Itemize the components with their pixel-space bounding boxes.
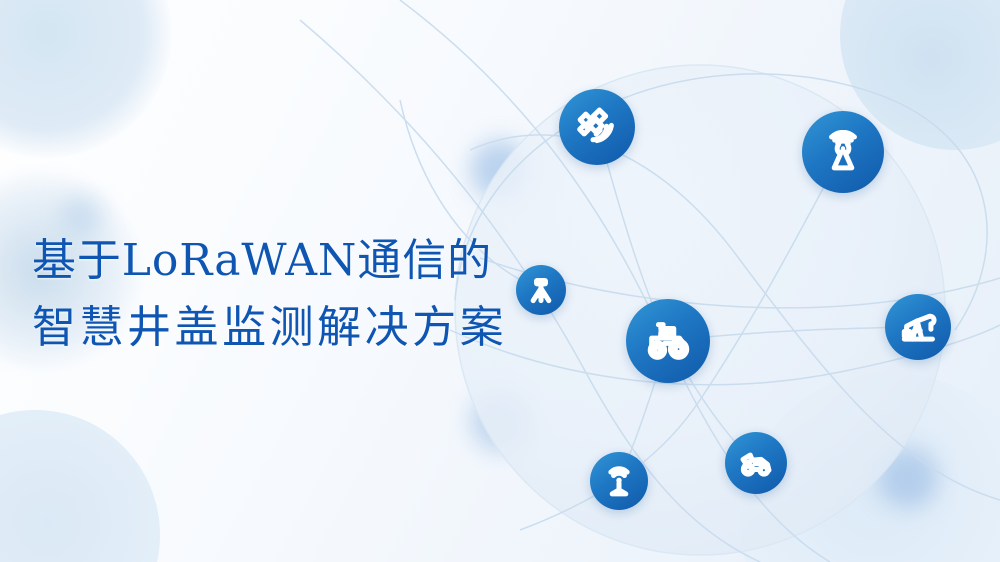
node-wireless-sensor[interactable] <box>590 452 648 510</box>
page-title: 基于LoRaWAN通信的 智慧井盖监测解决方案 <box>32 228 507 362</box>
node-satellite[interactable] <box>559 89 635 165</box>
node-radio-tower[interactable] <box>802 111 884 193</box>
cover-slide: 基于LoRaWAN通信的 智慧井盖监测解决方案 <box>0 0 1000 562</box>
title-line-2: 智慧井盖监测解决方案 <box>32 295 507 362</box>
wireless-sensor-icon <box>602 464 636 498</box>
node-oil-pumpjack[interactable] <box>885 294 951 360</box>
node-harvester[interactable] <box>725 432 787 494</box>
node-tractor[interactable] <box>626 299 710 383</box>
node-survey-tripod[interactable] <box>516 265 566 315</box>
survey-tripod-icon <box>527 276 555 304</box>
tractor-icon <box>644 317 692 365</box>
radio-tower-icon <box>821 130 865 174</box>
title-line-1: 基于LoRaWAN通信的 <box>32 235 492 286</box>
oil-pumpjack-icon <box>899 308 937 346</box>
satellite-icon <box>577 107 617 147</box>
harvester-icon <box>738 445 774 481</box>
